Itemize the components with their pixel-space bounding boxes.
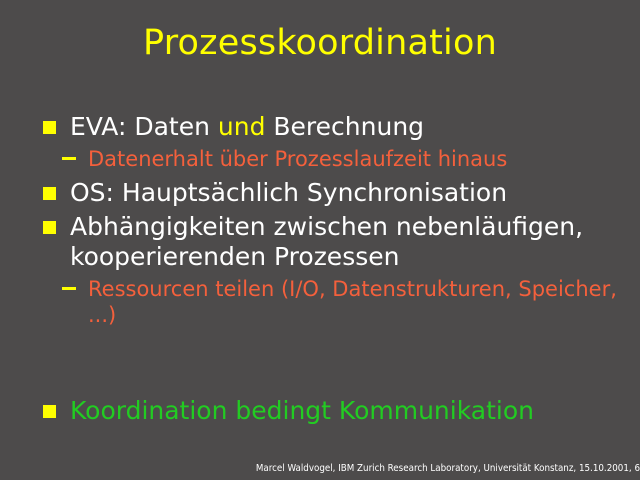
dash-bullet-icon [62,157,76,160]
bullet-label-emphasis: Koordination bedingt Kommunikation [70,396,534,425]
page-title: Prozesskoordination [0,22,640,64]
square-bullet-icon [43,187,56,200]
bullet-label: OS: Hauptsächlich Synchronisation [70,178,507,207]
sub-bullet-label: Ressourcen teilen (I/O, Datenstrukturen,… [88,277,617,327]
bullet-item-os: OS: Hauptsächlich Synchronisation [0,178,640,208]
bullet-item-abhaengigkeiten: Abhängigkeiten zwischen nebenläufigen, k… [0,212,640,272]
slide-footer: Marcel Waldvogel, IBM Zurich Research La… [19,462,640,475]
presentation-slide: Prozesskoordination EVA: Daten und Berec… [0,0,640,480]
bullet-text-before: EVA: Daten [70,112,218,141]
bullet-item-eva: EVA: Daten und Berechnung [0,112,640,142]
bullet-item-koordination: Koordination bedingt Kommunikation [0,396,640,426]
sub-bullet-item-datenerhalt: Datenerhalt über Prozesslaufzeit hinaus [0,146,640,172]
dash-bullet-icon [62,287,76,290]
content-spacer [0,334,640,396]
sub-bullet-label: Datenerhalt über Prozesslaufzeit hinaus [88,147,507,171]
bullet-label: Abhängigkeiten zwischen nebenläufigen, k… [70,212,583,271]
square-bullet-icon [43,121,56,134]
sub-bullet-item-ressourcen: Ressourcen teilen (I/O, Datenstrukturen,… [0,276,640,328]
square-bullet-icon [43,221,56,234]
bullet-text-after: Berechnung [265,112,424,141]
slide-body-content: EVA: Daten und Berechnung Datenerhalt üb… [0,112,640,430]
square-bullet-icon [43,405,56,418]
bullet-text-highlight: und [218,112,266,141]
